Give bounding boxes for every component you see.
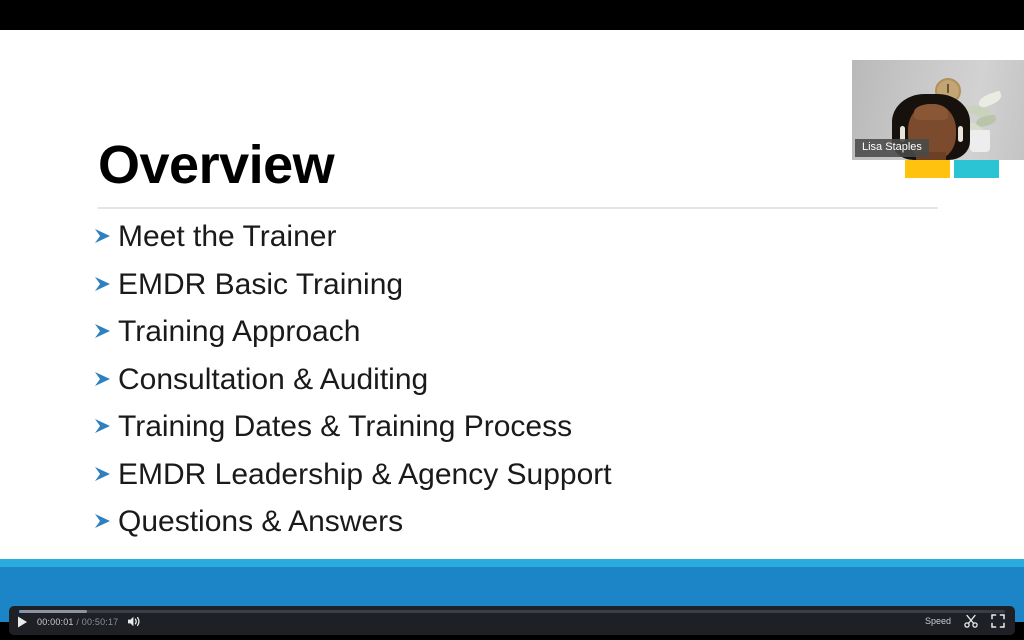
- list-item: Training Dates & Training Process: [92, 412, 952, 460]
- arrow-bullet-icon: [92, 368, 118, 390]
- list-item-label: EMDR Leadership & Agency Support: [118, 460, 612, 490]
- overview-bullet-list: Meet the Trainer EMDR Basic Training Tra…: [92, 222, 952, 555]
- list-item: Meet the Trainer: [92, 222, 952, 270]
- arrow-bullet-icon: [92, 273, 118, 295]
- play-icon[interactable]: [17, 616, 28, 628]
- list-item-label: Meet the Trainer: [118, 222, 336, 252]
- plant-pot-decor: [970, 130, 990, 152]
- fullscreen-icon[interactable]: [991, 614, 1005, 628]
- list-item-label: Questions & Answers: [118, 507, 403, 537]
- list-item: EMDR Leadership & Agency Support: [92, 460, 952, 508]
- video-player-viewer: Overview Meet the Trainer EMDR Basic Tra…: [0, 0, 1024, 640]
- scissors-icon[interactable]: [964, 614, 978, 628]
- total-time: 00:50:17: [82, 617, 119, 627]
- seek-bar-buffered: [19, 610, 87, 613]
- presenter-webcam-overlay[interactable]: Lisa Staples: [852, 60, 1024, 160]
- arrow-bullet-icon: [92, 463, 118, 485]
- arrow-bullet-icon: [92, 415, 118, 437]
- presenter-name-label: Lisa Staples: [855, 139, 929, 157]
- current-time: 00:00:01: [37, 617, 74, 627]
- player-controls-right: Speed: [925, 614, 1005, 628]
- presenter-forehead: [914, 104, 948, 120]
- presentation-slide: Overview Meet the Trainer EMDR Basic Tra…: [0, 30, 1024, 622]
- time-display: 00:00:01 / 00:50:17: [37, 617, 118, 627]
- slide-accent-band-light: [0, 559, 1024, 567]
- page-title: Overview: [98, 138, 334, 192]
- list-item-label: Training Approach: [118, 317, 360, 347]
- list-item-label: Consultation & Auditing: [118, 365, 428, 395]
- title-divider: [98, 207, 938, 209]
- seek-bar-progress: [19, 610, 22, 613]
- accent-block-yellow: [905, 160, 950, 178]
- time-separator: /: [76, 617, 79, 627]
- arrow-bullet-icon: [92, 320, 118, 342]
- list-item-label: EMDR Basic Training: [118, 270, 403, 300]
- seek-bar[interactable]: [19, 610, 1005, 613]
- accent-block-cyan: [954, 160, 999, 178]
- arrow-bullet-icon: [92, 225, 118, 247]
- list-item: EMDR Basic Training: [92, 270, 952, 318]
- player-controls-left: 00:00:01 / 00:50:17: [17, 615, 141, 628]
- volume-icon[interactable]: [127, 615, 141, 628]
- arrow-bullet-icon: [92, 510, 118, 532]
- playback-speed-button[interactable]: Speed: [925, 616, 951, 626]
- list-item-label: Training Dates & Training Process: [118, 412, 572, 442]
- list-item: Training Approach: [92, 317, 952, 365]
- earring-decor: [958, 126, 963, 142]
- player-control-bar: 00:00:01 / 00:50:17 Speed: [9, 606, 1015, 635]
- list-item: Consultation & Auditing: [92, 365, 952, 413]
- list-item: Questions & Answers: [92, 507, 952, 555]
